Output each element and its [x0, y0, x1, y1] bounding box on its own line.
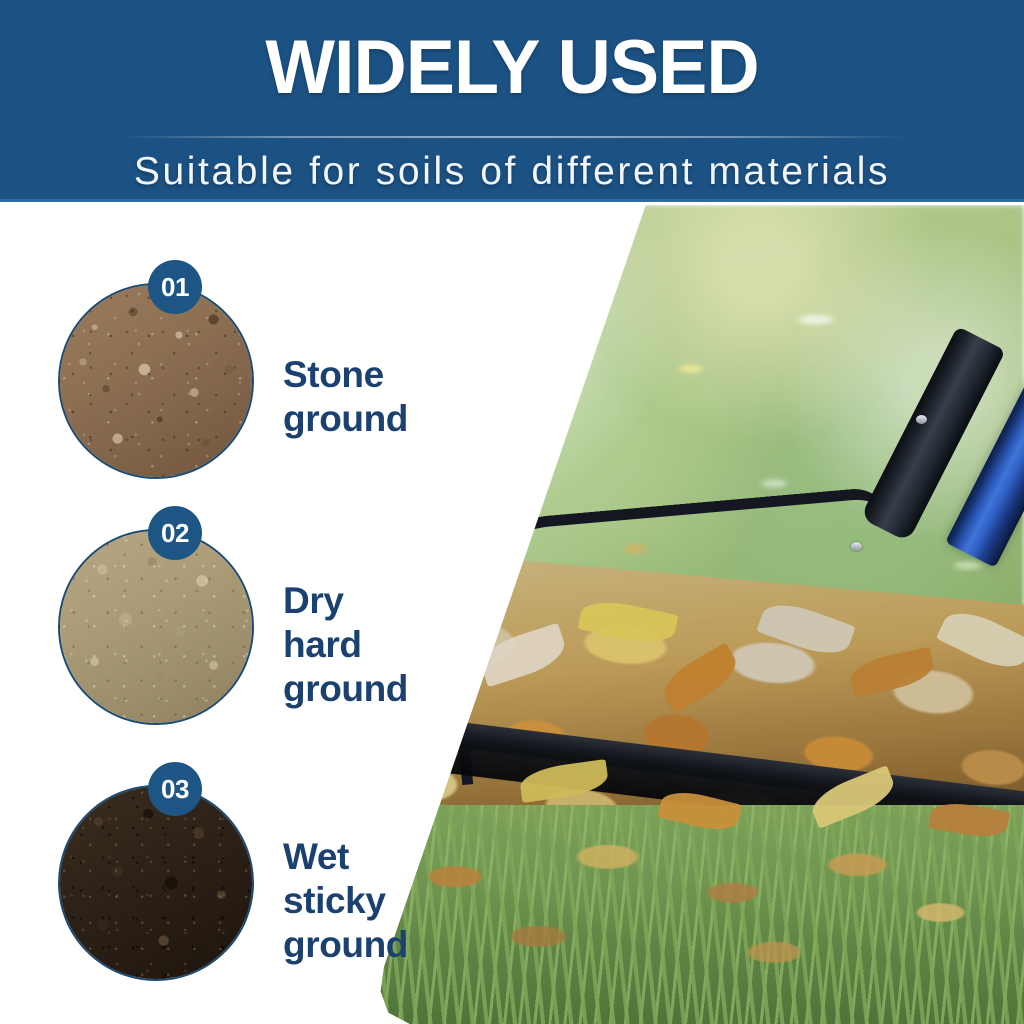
header-banner: WIDELY USED Suitable for soils of differ…	[0, 0, 1024, 202]
photo-foreground-leaves	[330, 825, 1024, 1024]
soil-texture-grain	[60, 285, 252, 477]
header-divider	[118, 136, 908, 138]
soil-texture-grain	[60, 787, 252, 979]
page-subtitle: Suitable for soils of different material…	[0, 148, 1024, 196]
rake-rivet-icon	[916, 415, 927, 424]
rake-rivet-icon	[851, 542, 862, 551]
soil-swatch-wet-sticky-ground	[58, 785, 254, 981]
soil-texture-grain	[60, 531, 252, 723]
soil-swatch-dry-hard-ground	[58, 529, 254, 725]
soil-label-stone-ground: Stone ground	[283, 353, 408, 441]
soil-label-wet-sticky-ground: Wet sticky ground	[283, 835, 408, 967]
soil-badge-03: 03	[148, 762, 202, 816]
soil-label-dry-hard-ground: Dry hard ground	[283, 579, 408, 711]
soil-swatch-stone-ground	[58, 283, 254, 479]
soil-badge-01: 01	[148, 260, 202, 314]
page-title: WIDELY USED	[15, 26, 1008, 110]
infographic-page: WIDELY USED Suitable for soils of differ…	[0, 0, 1024, 1024]
soil-badge-02: 02	[148, 506, 202, 560]
product-photo	[330, 205, 1024, 1024]
